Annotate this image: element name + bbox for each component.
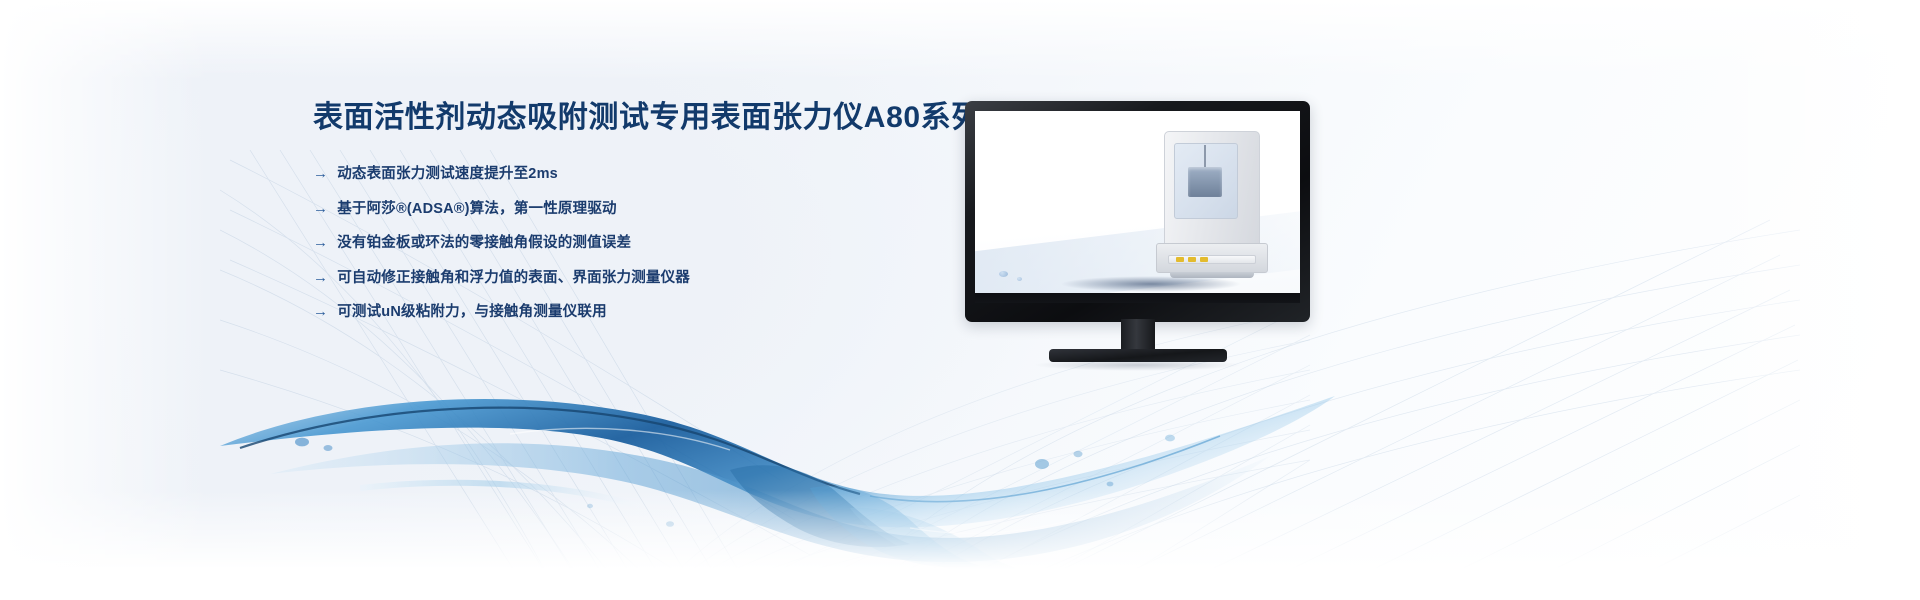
instrument-icon <box>1154 131 1276 291</box>
list-item-label: 动态表面张力测试速度提升至2ms <box>337 164 558 184</box>
arrow-right-icon: → <box>313 199 328 219</box>
feature-list: → 动态表面张力测试速度提升至2ms → 基于阿莎®(ADSA®)算法，第一性原… <box>313 164 1013 322</box>
hero-banner: 表面活性剂动态吸附测试专用表面张力仪A80系列 → 动态表面张力测试速度提升至2… <box>0 0 1920 600</box>
list-item-label: 没有铂金板或环法的零接触角假设的测值误差 <box>337 233 631 253</box>
list-item: → 可自动修正接触角和浮力值的表面、界面张力测量仪器 <box>313 268 1013 288</box>
monitor-stand-shadow <box>1033 359 1243 371</box>
monitor-bezel <box>965 101 1310 322</box>
banner-copy: 表面活性剂动态吸附测试专用表面张力仪A80系列 → 动态表面张力测试速度提升至2… <box>313 98 1013 322</box>
droplet-icon <box>999 271 1008 277</box>
arrow-right-icon: → <box>313 164 328 184</box>
fade-overlay-right <box>1690 0 1920 600</box>
list-item-label: 可测试uN级粘附力，与接触角测量仪联用 <box>337 302 607 322</box>
list-item: → 可测试uN级粘附力，与接触角测量仪联用 <box>313 302 1013 322</box>
list-item-label: 可自动修正接触角和浮力值的表面、界面张力测量仪器 <box>337 268 690 288</box>
list-item: → 基于阿莎®(ADSA®)算法，第一性原理驱动 <box>313 199 1013 219</box>
screen-brand-strip <box>975 293 1300 303</box>
monitor-neck <box>1121 319 1155 351</box>
arrow-right-icon: → <box>313 233 328 253</box>
arrow-right-icon: → <box>313 268 328 288</box>
list-item: → 动态表面张力测试速度提升至2ms <box>313 164 1013 184</box>
list-item-label: 基于阿莎®(ADSA®)算法，第一性原理驱动 <box>337 199 617 219</box>
monitor-screen <box>975 111 1300 303</box>
page-title: 表面活性剂动态吸附测试专用表面张力仪A80系列 <box>313 98 1013 138</box>
arrow-right-icon: → <box>313 302 328 322</box>
droplet-icon <box>1017 277 1022 281</box>
fade-overlay-bottom <box>0 490 1920 600</box>
monitor-illustration <box>965 101 1310 322</box>
list-item: → 没有铂金板或环法的零接触角假设的测值误差 <box>313 233 1013 253</box>
fade-overlay-left <box>0 0 210 600</box>
fade-overlay-top <box>0 0 1920 80</box>
water-splash-icon <box>210 338 1340 578</box>
